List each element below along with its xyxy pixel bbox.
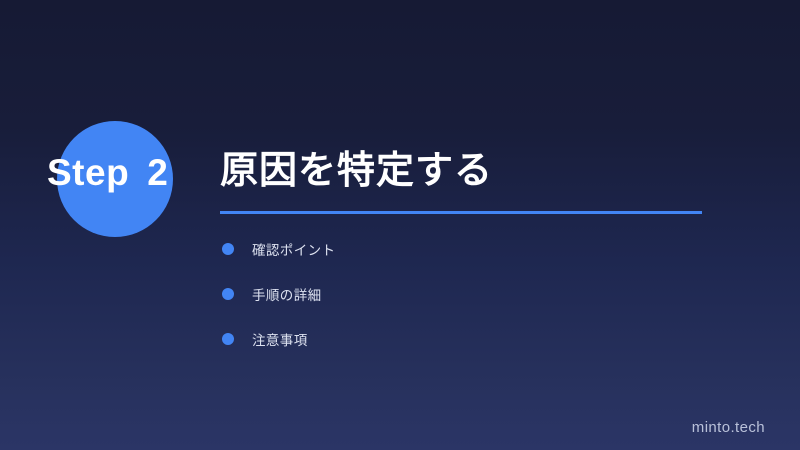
page-title: 原因を特定する (220, 147, 493, 195)
footer-brand: minto.tech (692, 419, 765, 436)
step-label: Step2 (47, 150, 168, 196)
list-item: 手順の詳細 (222, 283, 335, 304)
bullet-dot-icon (222, 288, 234, 300)
list-item-label: 手順の詳細 (252, 284, 322, 304)
list-item: 注意事項 (222, 328, 335, 349)
bullet-dot-icon (222, 243, 234, 255)
step-label-word: Step (47, 152, 129, 193)
list-item: 確認ポイント (222, 238, 335, 259)
list-item-label: 注意事項 (252, 329, 308, 349)
title-divider (220, 211, 702, 214)
step-label-number: 2 (147, 152, 168, 193)
bullet-list: 確認ポイント 手順の詳細 注意事項 (222, 238, 335, 349)
slide-canvas: Step2 原因を特定する 確認ポイント 手順の詳細 注意事項 minto.te… (0, 0, 800, 450)
bullet-dot-icon (222, 333, 234, 345)
list-item-label: 確認ポイント (252, 239, 335, 259)
